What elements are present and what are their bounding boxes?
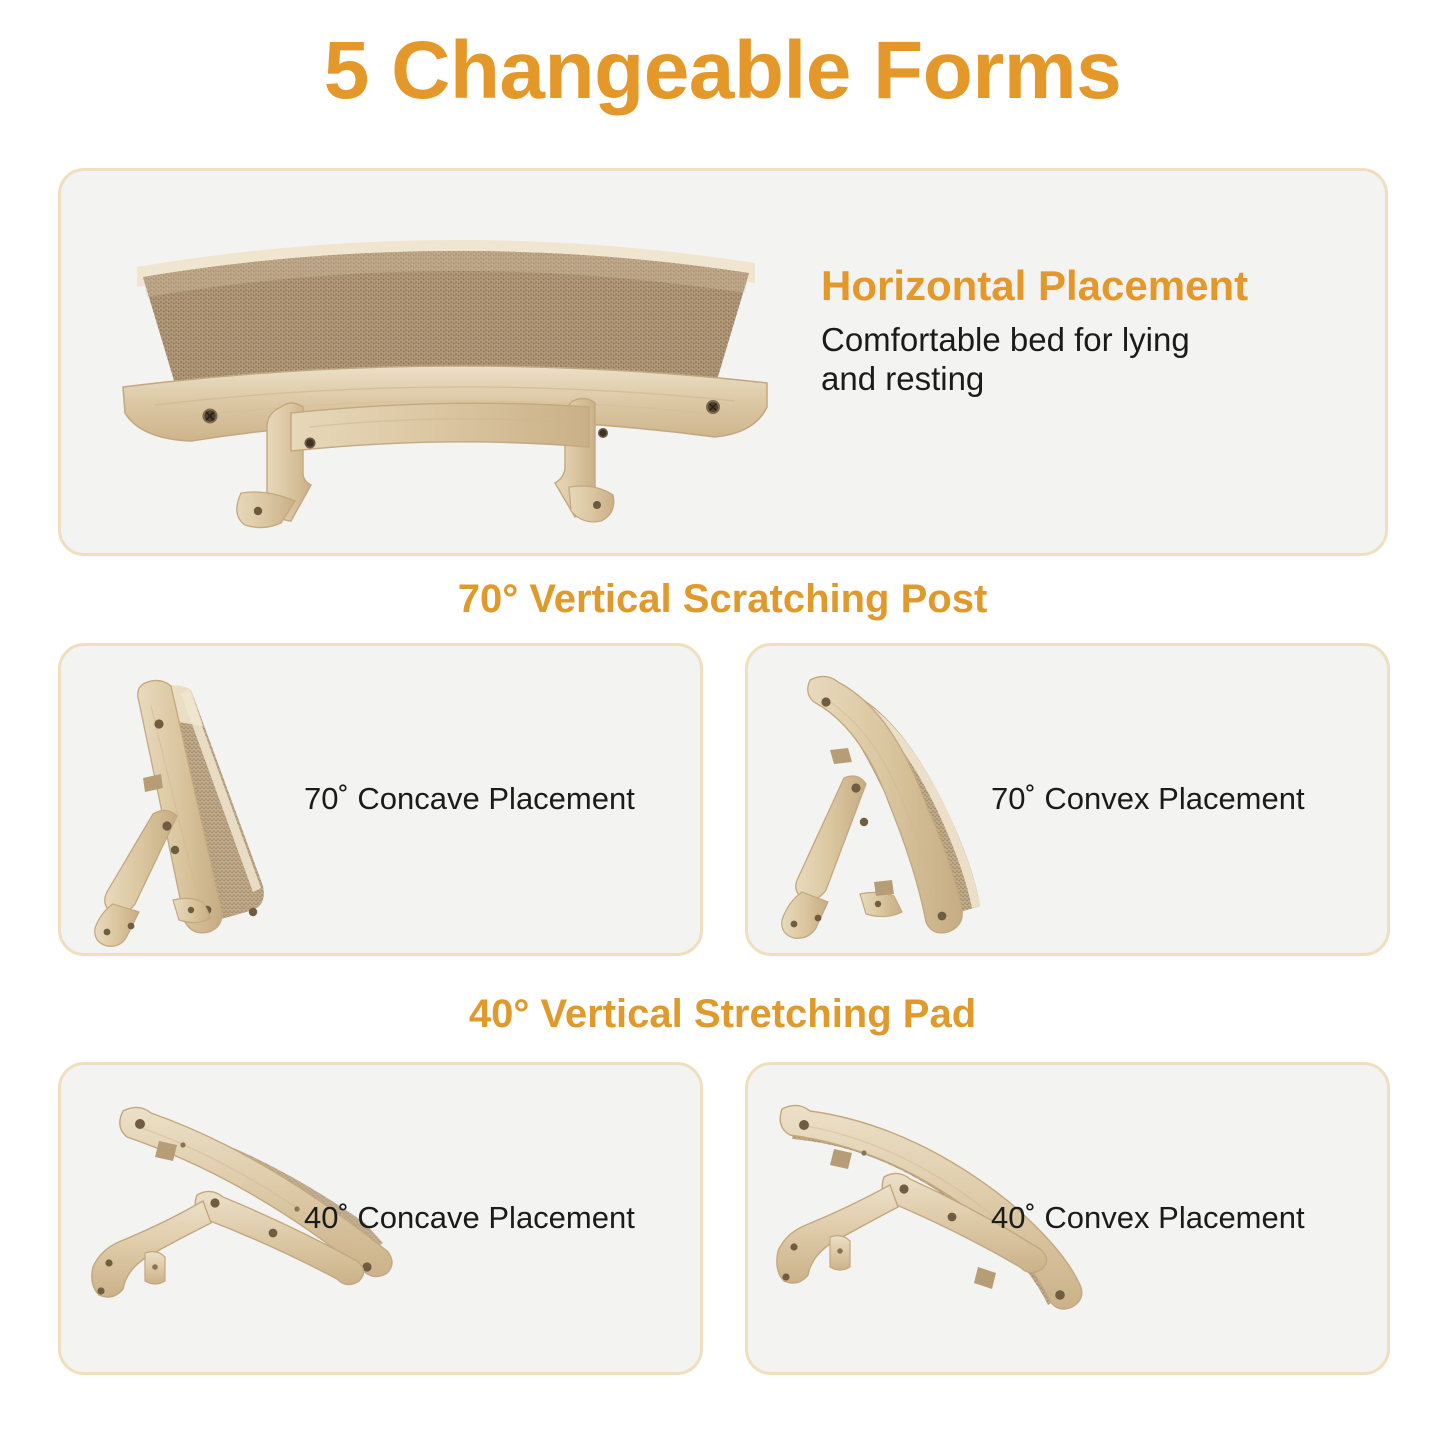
card-label-40-convex: 40˚ Convex Placement bbox=[991, 1200, 1305, 1236]
screw bbox=[706, 400, 720, 414]
card-label-40-concave: 40˚ Concave Placement bbox=[304, 1200, 635, 1236]
screw bbox=[598, 428, 608, 438]
page-title: 5 Changeable Forms bbox=[0, 28, 1445, 114]
card-horizontal-placement: Horizontal Placement Comfortable bed for… bbox=[58, 168, 1388, 556]
card-label-70-concave: 70˚ Concave Placement bbox=[304, 781, 635, 817]
card-label-70-convex: 70˚ Convex Placement bbox=[991, 781, 1305, 817]
screw bbox=[305, 438, 316, 449]
card-70-convex-placement: 70˚ Convex Placement bbox=[745, 643, 1390, 956]
hero-subtitle-line2: and resting bbox=[821, 360, 1371, 399]
hero-subtitle: Comfortable bed for lying and resting bbox=[821, 321, 1371, 399]
hero-text-block: Horizontal Placement Comfortable bed for… bbox=[821, 263, 1371, 399]
cat-scratcher-horizontal-bed-illustration bbox=[95, 201, 795, 531]
card-40-concave-placement: 40˚ Concave Placement bbox=[58, 1062, 703, 1375]
section-heading-40-vertical-stretching-pad: 40° Vertical Stretching Pad bbox=[0, 992, 1445, 1037]
cat-scratcher-70-concave-illustration bbox=[81, 654, 331, 954]
cat-scratcher-70-convex-illustration bbox=[768, 654, 1018, 954]
card-40-convex-placement: 40˚ Convex Placement bbox=[745, 1062, 1390, 1375]
hero-title: Horizontal Placement bbox=[821, 263, 1371, 309]
hero-subtitle-line1: Comfortable bed for lying bbox=[821, 321, 1371, 360]
screw bbox=[203, 409, 218, 424]
section-heading-70-vertical-scratching-post: 70° Vertical Scratching Post bbox=[0, 577, 1445, 622]
card-70-concave-placement: 70˚ Concave Placement bbox=[58, 643, 703, 956]
